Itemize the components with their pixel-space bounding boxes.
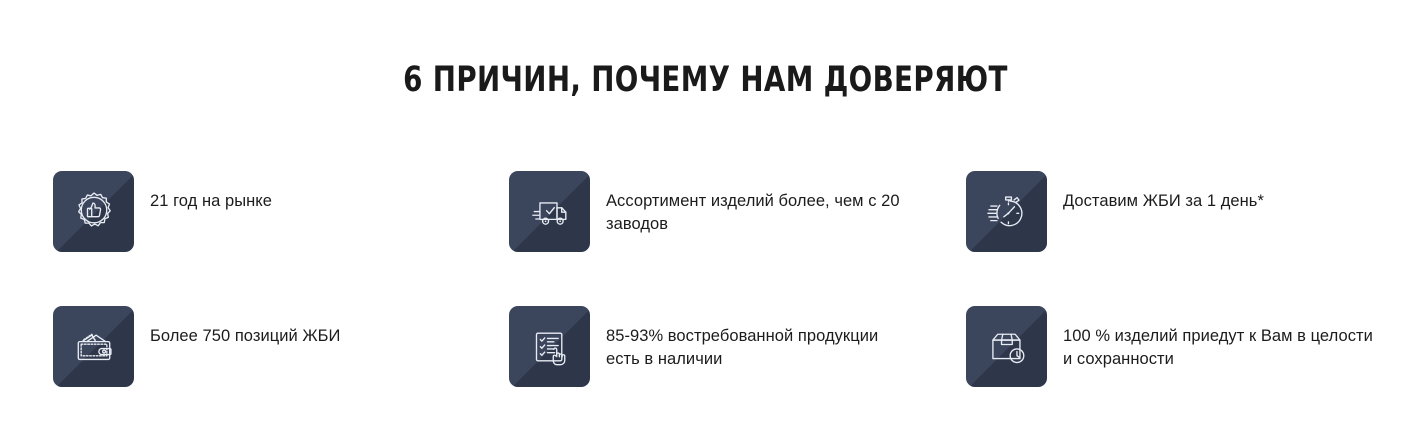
benefit-label: 100 % изделий приедут к Вам в целости и … (1047, 306, 1373, 371)
benefits-grid: 21 год на рынке Ассорт (53, 171, 1373, 441)
checklist-hand-icon (527, 324, 573, 370)
benefit-label: Доставим ЖБИ за 1 день* (1047, 171, 1373, 213)
benefit-icon-tile (509, 306, 590, 387)
benefit-icon-tile (53, 171, 134, 252)
page-title: 6 ПРИЧИН, ПОЧЕМУ НАМ ДОВЕРЯЮТ (85, 59, 1327, 101)
delivery-truck-check-icon (527, 189, 573, 235)
benefit-label-line2: заводов (606, 213, 966, 236)
benefit-label: Более 750 позиций ЖБИ (134, 306, 509, 348)
benefit-label-line2: есть в наличии (606, 348, 966, 371)
benefit-label: 85-93% востребованной продукции есть в н… (590, 306, 966, 371)
benefit-label-line1: Доставим ЖБИ за 1 день* (1063, 192, 1264, 210)
benefit-icon-tile (966, 306, 1047, 387)
benefit-label: Ассортимент изделий более, чем с 20 заво… (590, 171, 966, 236)
benefit-icon-tile (509, 171, 590, 252)
benefit-label-line1: Более 750 позиций ЖБИ (150, 327, 340, 345)
benefit-label-line2: и сохранности (1063, 348, 1373, 371)
benefit-item: Доставим ЖБИ за 1 день* (966, 171, 1373, 306)
benefit-label: 21 год на рынке (134, 171, 509, 213)
benefit-label-line1: 21 год на рынке (150, 192, 272, 210)
benefit-icon-tile (53, 306, 134, 387)
reasons-section: 6 ПРИЧИН, ПОЧЕМУ НАМ ДОВЕРЯЮТ 21 год на … (0, 0, 1411, 447)
benefit-item: 85-93% востребованной продукции есть в н… (509, 306, 966, 441)
stopwatch-speed-icon (984, 189, 1030, 235)
thumbs-up-badge-icon (71, 189, 117, 235)
package-clock-icon (984, 324, 1030, 370)
benefit-label-line1: 85-93% востребованной продукции (606, 327, 878, 345)
benefit-item: Ассортимент изделий более, чем с 20 заво… (509, 171, 966, 306)
benefit-item: Более 750 позиций ЖБИ (53, 306, 509, 441)
benefit-label-line1: 100 % изделий приедут к Вам в целости (1063, 327, 1373, 345)
benefit-item: 21 год на рынке (53, 171, 509, 306)
wallet-money-icon (71, 324, 117, 370)
benefit-label-line1: Ассортимент изделий более, чем с 20 (606, 192, 900, 210)
benefit-icon-tile (966, 171, 1047, 252)
benefit-item: 100 % изделий приедут к Вам в целости и … (966, 306, 1373, 441)
